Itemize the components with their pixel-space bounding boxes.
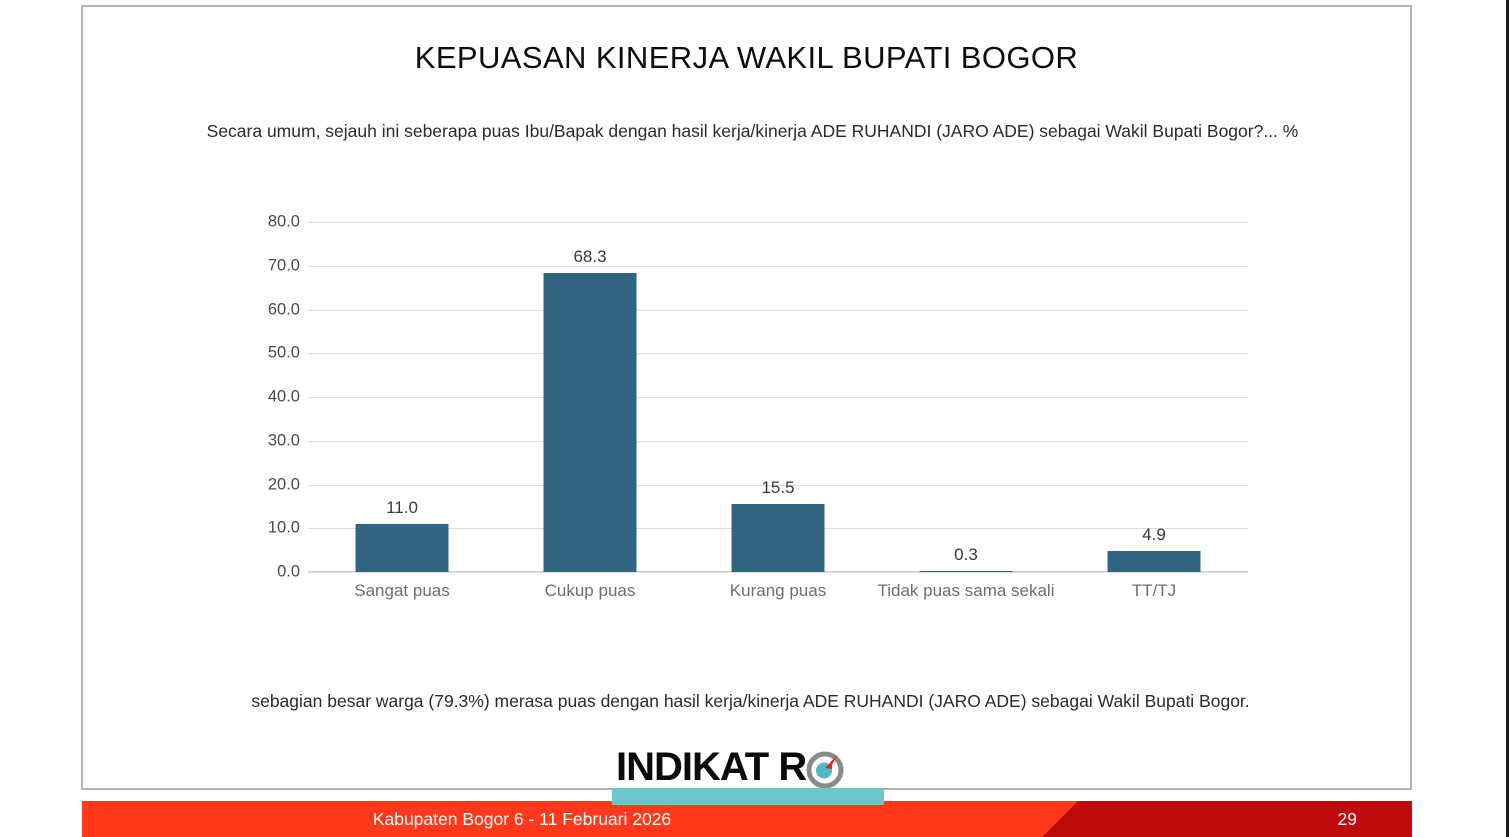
page-title: KEPUASAN KINERJA WAKIL BUPATI BOGOR <box>83 40 1410 76</box>
bar[interactable] <box>356 524 449 572</box>
footer-survey-period: Kabupaten Bogor 6 - 11 Februari 2026 <box>82 801 962 837</box>
y-axis-tick-label: 50.0 <box>233 344 300 363</box>
bar-slot: 0.3 <box>872 222 1060 572</box>
y-axis: 0.010.020.030.040.050.060.070.080.0 <box>233 222 300 572</box>
bar-slot: 11.0 <box>308 222 496 572</box>
y-axis-tick-label: 0.0 <box>233 563 300 582</box>
y-axis-tick-label: 40.0 <box>233 388 300 407</box>
footer-bar: Kabupaten Bogor 6 - 11 Februari 2026 29 <box>82 801 1412 837</box>
y-axis-tick-label: 80.0 <box>233 213 300 232</box>
x-axis-category-label: Kurang puas <box>684 578 872 603</box>
bar[interactable] <box>920 571 1013 573</box>
y-axis-tick-label: 60.0 <box>233 300 300 319</box>
bar-value-label: 4.9 <box>1142 525 1166 545</box>
x-axis-category-label: TT/TJ <box>1060 578 1248 603</box>
gridline <box>308 572 1248 573</box>
y-axis-tick-label: 30.0 <box>233 431 300 450</box>
bar-slot: 4.9 <box>1060 222 1248 572</box>
bar[interactable] <box>732 504 825 572</box>
compass-target-icon <box>805 749 845 789</box>
bar-slot: 15.5 <box>684 222 872 572</box>
bar-value-label: 0.3 <box>954 545 978 565</box>
y-axis-tick-label: 20.0 <box>233 475 300 494</box>
bar-value-label: 11.0 <box>386 498 418 518</box>
indikator-logo: INDIKAT R <box>616 744 886 792</box>
summary-caption: sebagian besar warga (79.3%) merasa puas… <box>143 691 1358 712</box>
x-axis-category-label: Cukup puas <box>496 578 684 603</box>
bar-slot: 68.3 <box>496 222 684 572</box>
bar-chart: 0.010.020.030.040.050.060.070.080.0 11.0… <box>233 222 1323 642</box>
slide-frame: KEPUASAN KINERJA WAKIL BUPATI BOGOR Seca… <box>81 5 1412 790</box>
bar-value-label: 15.5 <box>761 478 794 498</box>
plot-area: 11.068.315.50.34.9 <box>308 222 1248 572</box>
y-axis-tick-label: 70.0 <box>233 256 300 275</box>
bar[interactable] <box>1108 551 1201 572</box>
question-subtitle: Secara umum, sejauh ini seberapa puas Ib… <box>175 117 1330 145</box>
page-number: 29 <box>1338 801 1357 837</box>
bar-value-label: 68.3 <box>573 247 606 267</box>
x-axis-category-label: Sangat puas <box>308 578 496 603</box>
teal-accent-bar <box>612 788 884 805</box>
y-axis-tick-label: 10.0 <box>233 519 300 538</box>
x-axis-category-label: Tidak puas sama sekali <box>872 578 1060 603</box>
logo-wordmark: INDIKAT R <box>616 744 806 790</box>
x-axis: Sangat puasCukup puasKurang puasTidak pu… <box>308 578 1248 640</box>
bar[interactable] <box>544 273 637 572</box>
